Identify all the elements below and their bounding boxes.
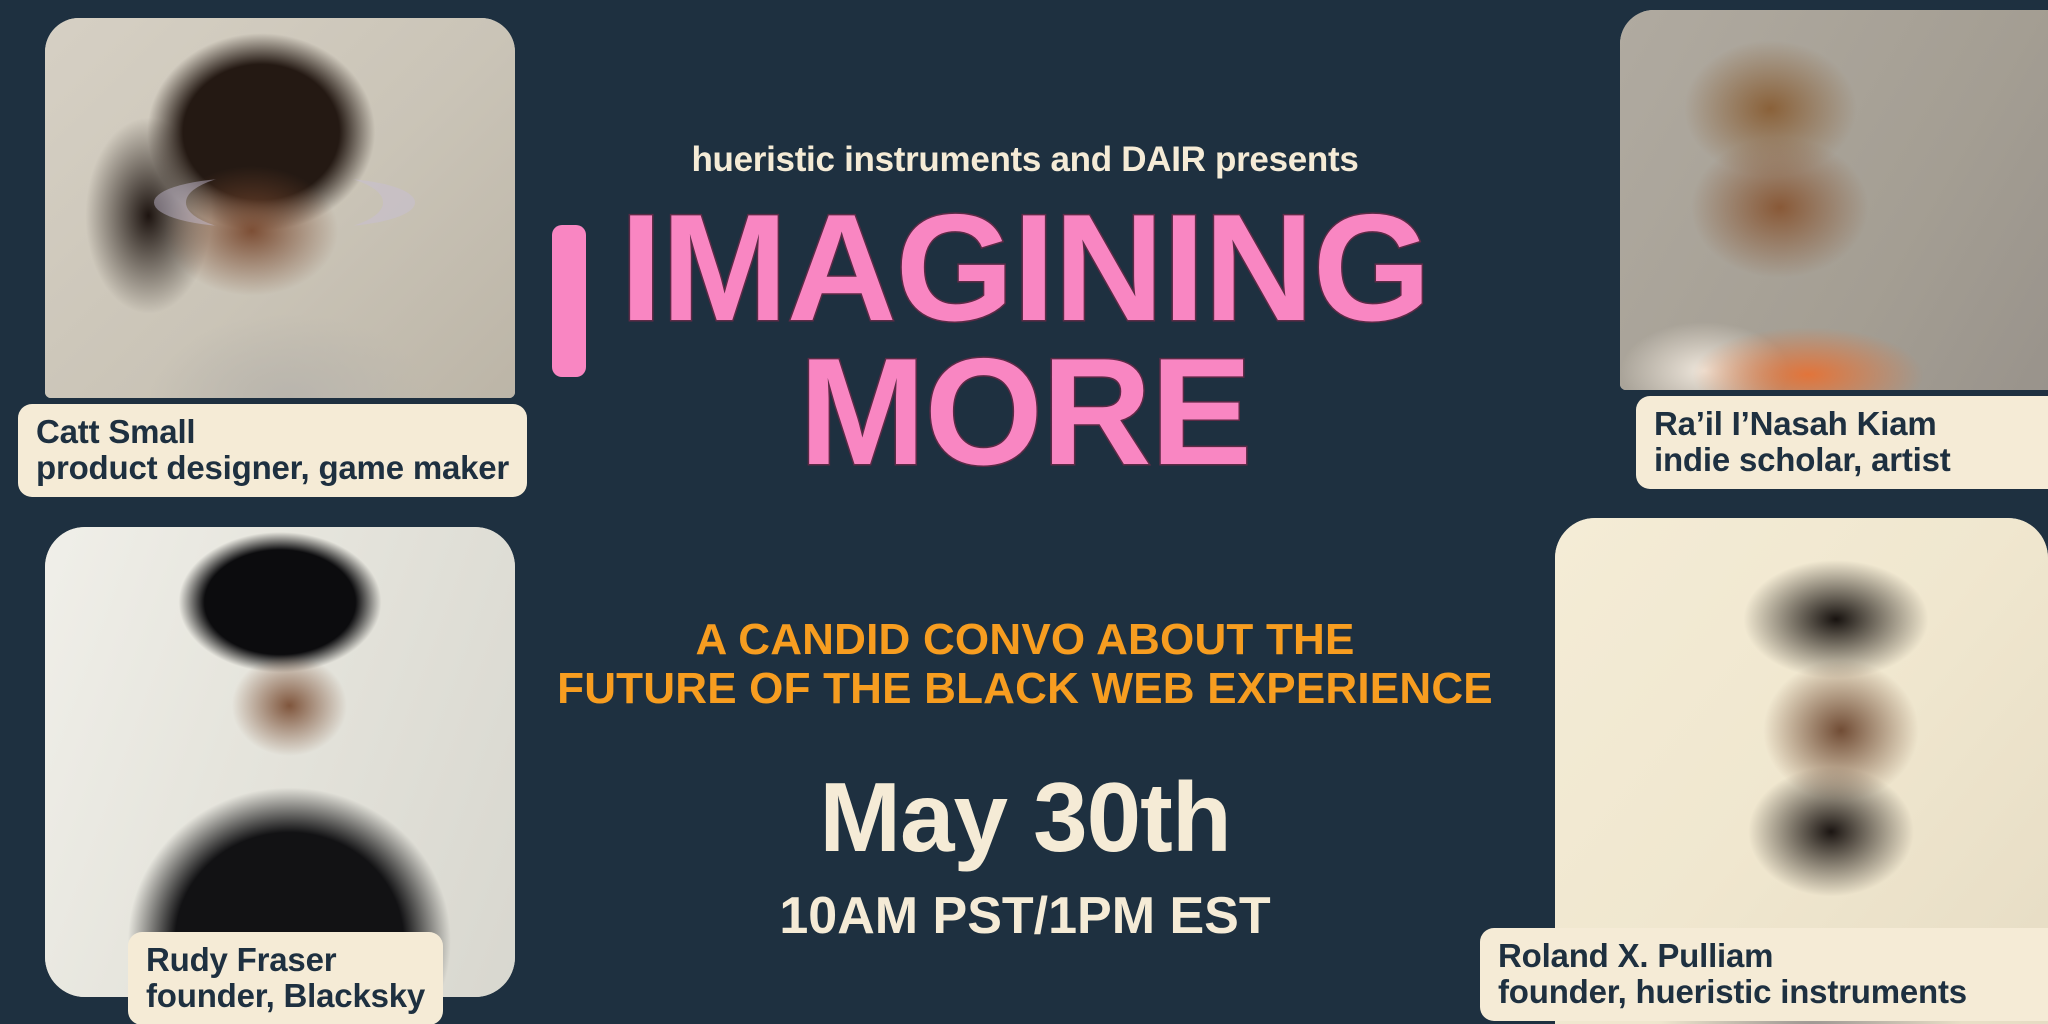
event-date: May 30th [520,768,1530,866]
event-title-line-2: MORE [520,340,1530,484]
speaker-label-rail-inasah-kiam: Ra’il I’Nasah Kiam indie scholar, artist [1636,396,2048,489]
event-time: 10AM PST/1PM EST [520,890,1530,942]
speaker-role: founder, Blacksky [146,978,425,1014]
speaker-label-rudy-fraser: Rudy Fraser founder, Blacksky [128,932,443,1024]
portrait-image-rudy-fraser [45,527,515,997]
speaker-name: Roland X. Pulliam [1498,938,2030,974]
speaker-role: indie scholar, artist [1654,442,2048,478]
speaker-photo-rudy-fraser [45,527,515,997]
event-subtitle-line-1: A CANDID CONVO ABOUT THE [695,615,1354,664]
event-poster: Catt Small product designer, game maker … [0,0,2048,1024]
event-title: IMAGINING MORE [520,196,1530,485]
portrait-image-catt-small [45,18,515,398]
speaker-role: product designer, game maker [36,450,509,486]
speaker-role: founder, hueristic instruments [1498,974,2030,1010]
speaker-label-roland-x-pulliam: Roland X. Pulliam founder, hueristic ins… [1480,928,2048,1021]
speaker-label-catt-small: Catt Small product designer, game maker [18,404,527,497]
speaker-name: Rudy Fraser [146,942,425,978]
speaker-photo-catt-small [45,18,515,398]
portrait-image-rail-inasah-kiam [1620,10,2048,390]
speaker-name: Catt Small [36,414,509,450]
event-subtitle-line-2: FUTURE OF THE BLACK WEB EXPERIENCE [520,664,1530,713]
event-subtitle: A CANDID CONVO ABOUT THE FUTURE OF THE B… [520,615,1530,714]
center-content: hueristic instruments and DAIR presents … [520,0,1530,1024]
speaker-name: Ra’il I’Nasah Kiam [1654,406,2048,442]
presenter-line: hueristic instruments and DAIR presents [520,140,1530,180]
speaker-photo-rail-inasah-kiam [1620,10,2048,390]
